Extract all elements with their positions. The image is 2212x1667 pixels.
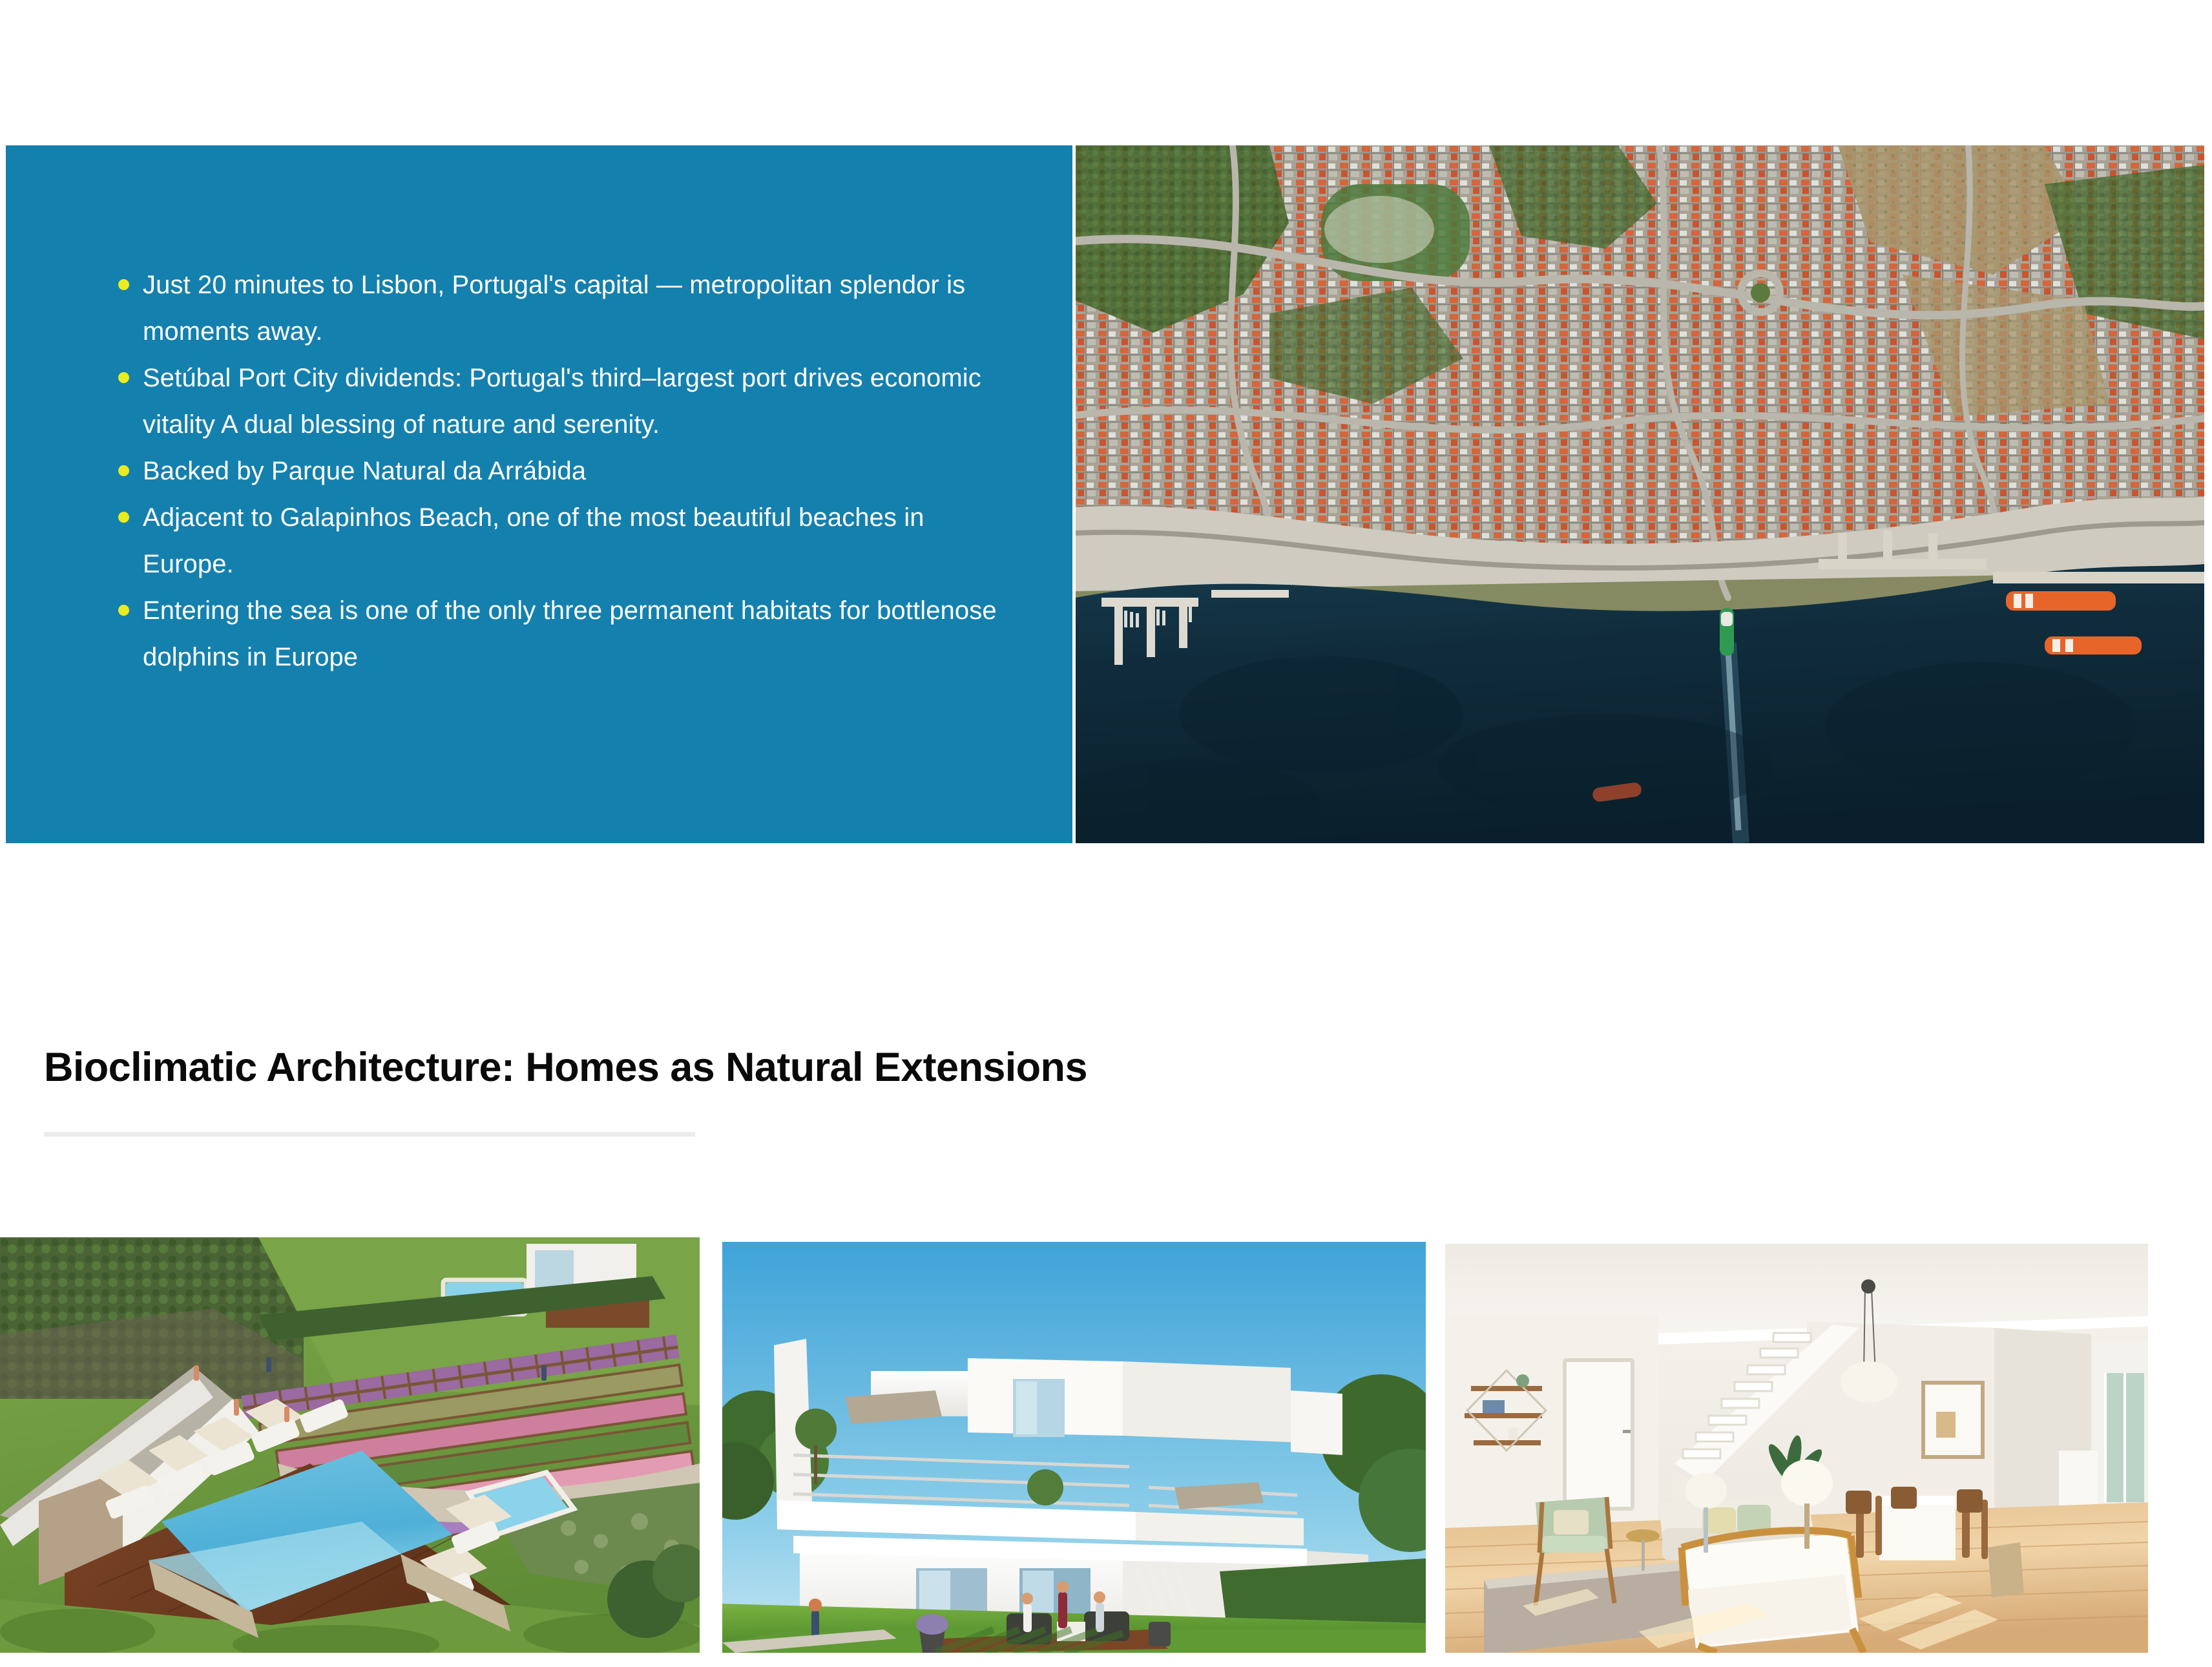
gallery-image-living-room-interior[interactable] [1445, 1244, 2148, 1653]
list-item: Backed by Parque Natural da Arrábida [113, 448, 1017, 494]
bullet-dot-icon [118, 279, 129, 290]
list-item-text: Just 20 minutes to Lisbon, Portugal's ca… [143, 271, 965, 346]
slide-page: Just 20 minutes to Lisbon, Portugal's ca… [0, 0, 2212, 1667]
gallery-image-modern-villa-exterior[interactable] [722, 1242, 1426, 1653]
list-item-text: Adjacent to Galapinhos Beach, one of the… [143, 503, 924, 578]
list-item: Adjacent to Galapinhos Beach, one of the… [113, 494, 1017, 587]
bullet-dot-icon [118, 512, 129, 523]
list-item: Just 20 minutes to Lisbon, Portugal's ca… [113, 262, 1017, 355]
heading-divider [44, 1132, 695, 1137]
info-panel: Just 20 minutes to Lisbon, Portugal's ca… [6, 145, 1072, 843]
page-title: Bioclimatic Architecture: Homes as Natur… [44, 1044, 1087, 1091]
hero-section: Just 20 minutes to Lisbon, Portugal's ca… [0, 145, 2212, 843]
list-item-text: Setúbal Port City dividends: Portugal's … [143, 364, 981, 439]
gallery-image-villa-infinity-pool[interactable] [0, 1237, 700, 1653]
bullet-dot-icon [118, 465, 129, 476]
bullet-dot-icon [118, 372, 129, 383]
list-item: Entering the sea is one of the only thre… [113, 587, 1017, 680]
bullet-dot-icon [118, 605, 129, 616]
list-item-text: Backed by Parque Natural da Arrábida [143, 457, 586, 485]
list-item: Setúbal Port City dividends: Portugal's … [113, 355, 1017, 448]
aerial-satellite-image [1076, 145, 2204, 843]
gallery [0, 1237, 2212, 1667]
highlights-bullet-list: Just 20 minutes to Lisbon, Portugal's ca… [113, 262, 1037, 680]
list-item-text: Entering the sea is one of the only thre… [143, 596, 997, 671]
